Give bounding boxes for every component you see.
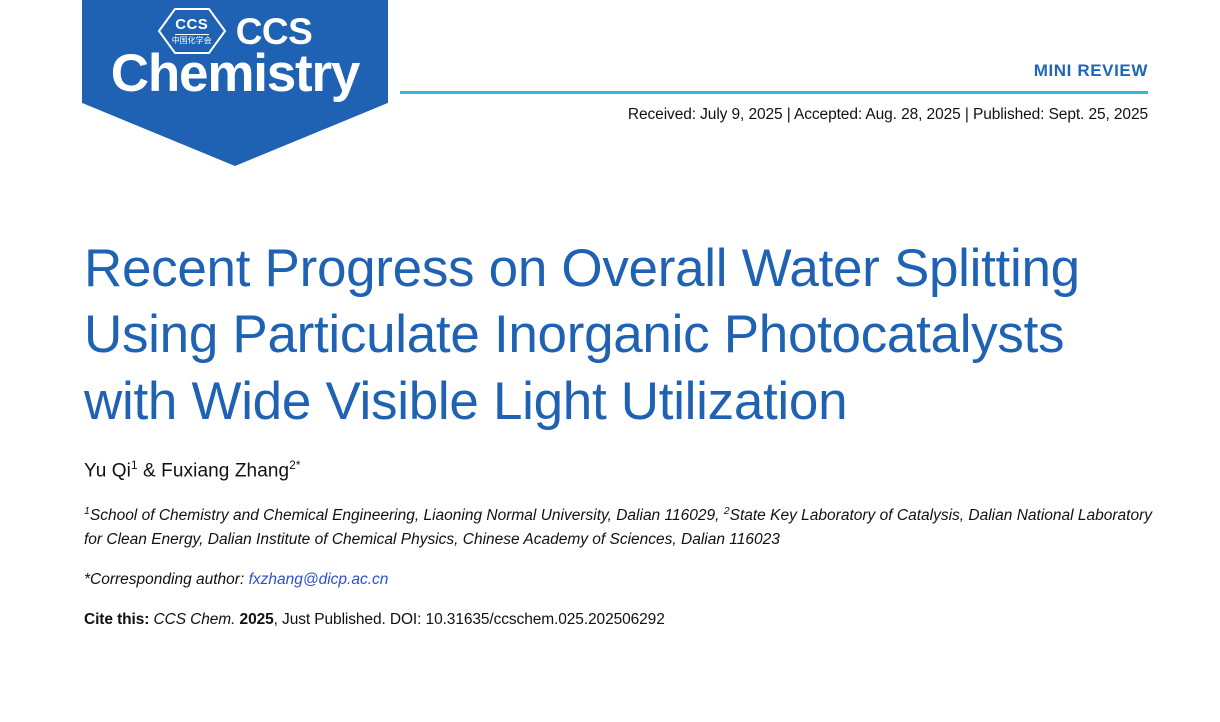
corresponding-author-label: *Corresponding author: <box>84 571 249 588</box>
affiliation-list: 1School of Chemistry and Chemical Engine… <box>84 503 1152 551</box>
ccs-hexagon-text: CCS 中国化学会 <box>172 17 212 45</box>
affiliation-text-1: School of Chemistry and Chemical Enginee… <box>90 507 724 524</box>
ccs-chemistry-banner: CCS 中国化学会 CCS Chemistry <box>82 0 388 166</box>
author-conjunction: & <box>138 460 162 481</box>
author-list: Yu Qi1 & Fuxiang Zhang2* <box>84 459 1152 482</box>
corresponding-author-line: *Corresponding author: fxzhang@dicp.ac.c… <box>84 571 1152 589</box>
author-name-2: Fuxiang Zhang <box>161 460 289 481</box>
citation-status-doi: , Just Published. DOI: 10.31635/ccschem.… <box>274 611 665 628</box>
corresponding-author-email-link[interactable]: fxzhang@dicp.ac.cn <box>249 571 389 588</box>
page-title: Recent Progress on Overall Water Splitti… <box>84 236 1144 435</box>
author-name-1: Yu Qi <box>84 460 131 481</box>
brand-wordmark-chemistry: Chemistry <box>82 47 388 100</box>
ccs-hexagon-divider <box>175 34 209 35</box>
header-divider-rule <box>400 91 1148 94</box>
header-right-block: MINI REVIEW Received: July 9, 2025 | Acc… <box>400 0 1148 124</box>
publication-dates: Received: July 9, 2025 | Accepted: Aug. … <box>400 106 1148 124</box>
masthead: CCS 中国化学会 CCS Chemistry MINI REVIEW Rece… <box>0 0 1220 170</box>
author-affiliation-marker-1: 1 <box>131 459 138 472</box>
citation-journal: CCS Chem. <box>154 611 236 628</box>
ccs-hexagon-abbr-label: CCS <box>175 17 208 32</box>
article-header-block: Recent Progress on Overall Water Splitti… <box>84 236 1152 629</box>
citation-line: Cite this: CCS Chem. 2025, Just Publishe… <box>84 611 1152 629</box>
article-type-label: MINI REVIEW <box>400 62 1148 79</box>
author-affiliation-marker-2: 2* <box>289 459 300 472</box>
citation-label: Cite this: <box>84 611 149 628</box>
citation-year: 2025 <box>240 611 274 628</box>
ccs-hexagon-chinese-label: 中国化学会 <box>172 37 212 45</box>
